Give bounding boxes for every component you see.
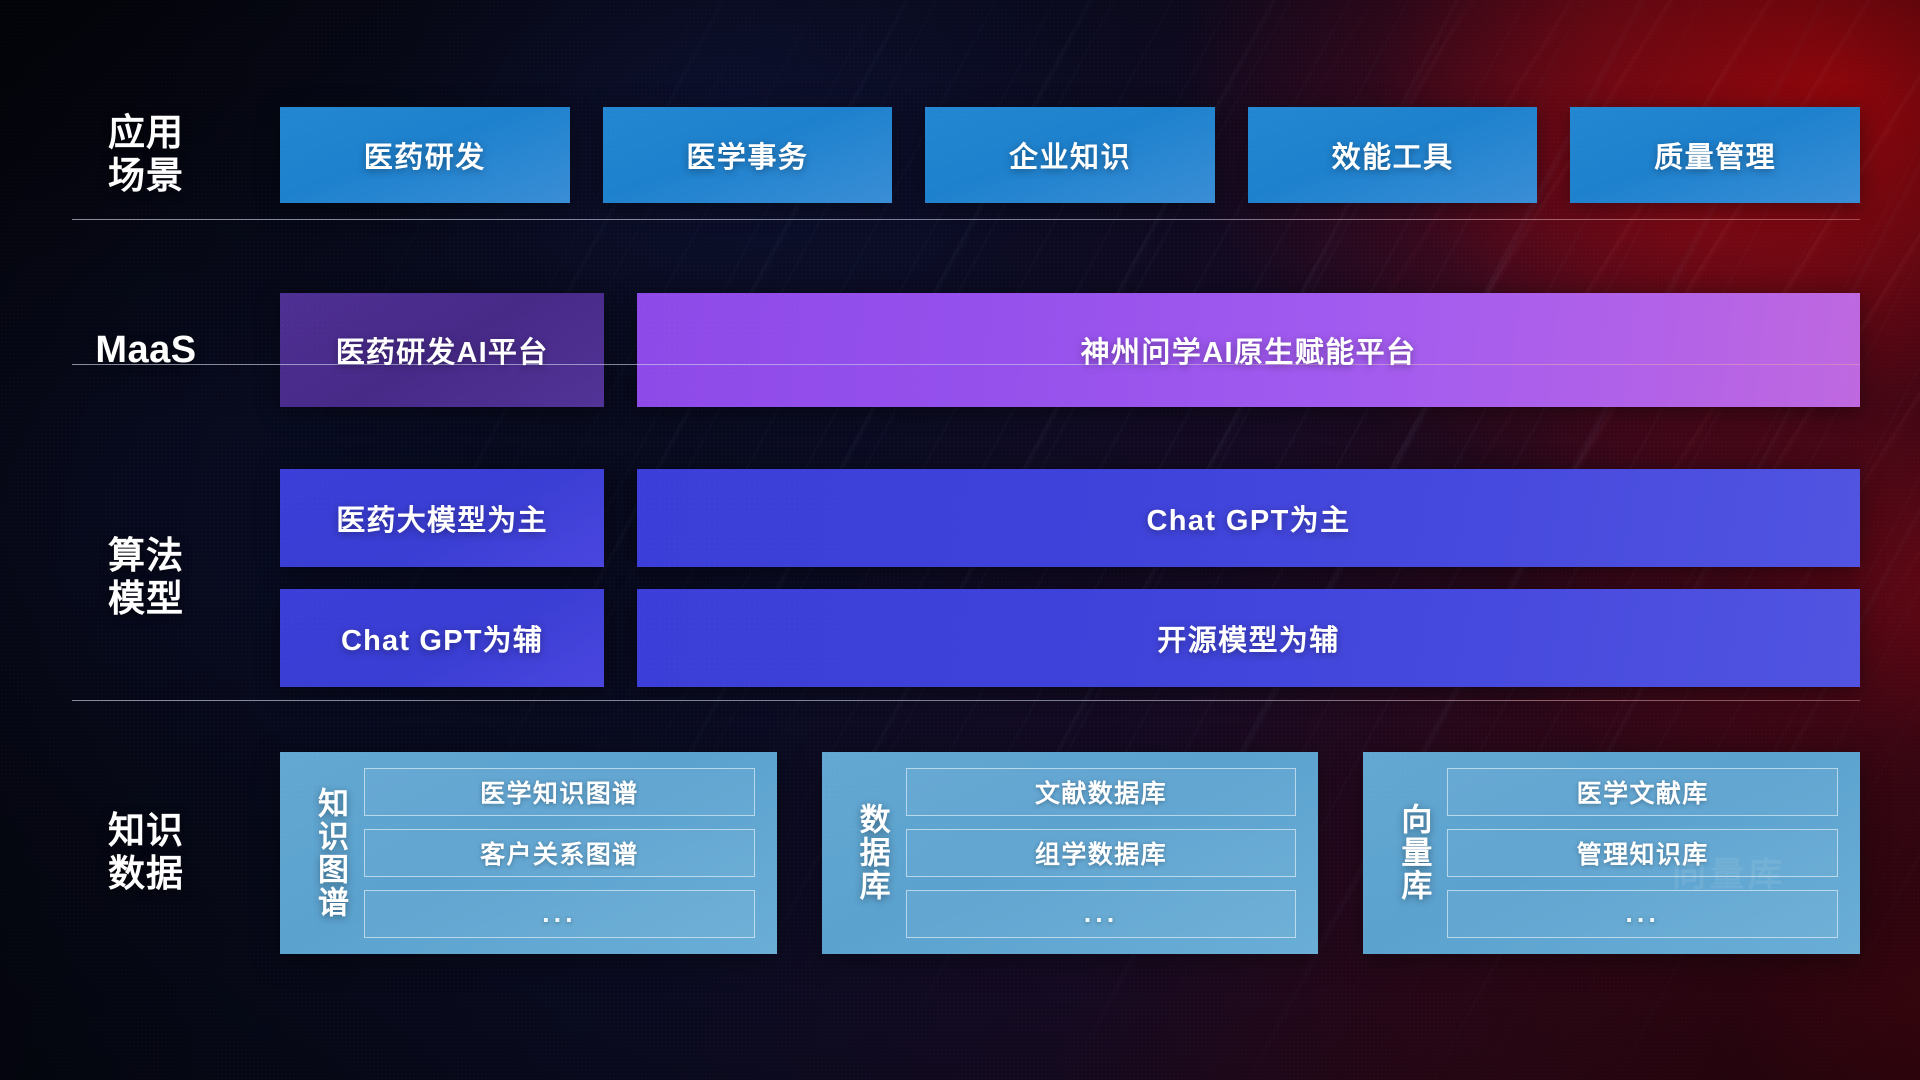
knowledge-panel-knowledge-graph[interactable]: 知识图谱 医学知识图谱 客户关系图谱 ... (280, 752, 777, 954)
row-label-application-scenarios: 应用 场景 (72, 112, 220, 198)
app-card-label: 效能工具 (1332, 134, 1454, 176)
knowledge-panel-title: 数据库 (840, 803, 888, 902)
app-card-drug-rd[interactable]: 医药研发 (280, 107, 570, 203)
knowledge-chip[interactable]: 医学文献库 (1447, 768, 1838, 816)
maas-card-label: 医药研发AI平台 (336, 329, 549, 371)
slide-canvas: 应用 场景 医药研发 医学事务 企业知识 效能工具 质量管理 (0, 0, 1920, 1080)
app-card-efficiency-tools[interactable]: 效能工具 (1248, 107, 1538, 203)
row-maas: MaaS 医药研发AI平台 神州问学AI原生赋能平台 (72, 293, 1860, 407)
knowledge-chip[interactable]: 管理知识库 (1447, 829, 1838, 877)
divider-algo-knowledge (72, 700, 1860, 701)
maas-card-label: 神州问学AI原生赋能平台 (1081, 329, 1417, 371)
app-card-label: 医学事务 (686, 134, 808, 176)
knowledge-chip-more[interactable]: ... (906, 890, 1297, 938)
algo-card-chatgpt-secondary[interactable]: Chat GPT为辅 (280, 589, 604, 687)
maas-card-shenzhou-wenxue-platform[interactable]: 神州问学AI原生赋能平台 (637, 293, 1860, 407)
knowledge-chip[interactable]: 文献数据库 (906, 768, 1297, 816)
knowledge-data-panels: 知识图谱 医学知识图谱 客户关系图谱 ... 数据库 文献数据库 组学数据库 .… (280, 752, 1860, 954)
application-scenario-cards: 医药研发 医学事务 企业知识 效能工具 质量管理 (280, 107, 1860, 203)
algorithm-model-cards: 医药大模型为主 Chat GPT为主 Chat GPT为辅 开源模型为辅 (280, 469, 1860, 687)
algo-card-chatgpt-primary[interactable]: Chat GPT为主 (637, 469, 1860, 567)
algo-card-label: Chat GPT为主 (1146, 497, 1350, 539)
algo-card-label: 医药大模型为主 (336, 497, 547, 539)
row-knowledge-data: 知识 数据 知识图谱 医学知识图谱 客户关系图谱 ... 数据库 文献数据库 组… (72, 730, 1860, 975)
app-card-label: 企业知识 (1009, 134, 1131, 176)
maas-card-drug-rd-ai-platform[interactable]: 医药研发AI平台 (280, 293, 604, 407)
row-label-knowledge-data: 知识 数据 (72, 810, 220, 896)
knowledge-panel-items: 文献数据库 组学数据库 ... (906, 768, 1297, 938)
knowledge-chip[interactable]: 组学数据库 (906, 829, 1297, 877)
app-card-enterprise-knowledge[interactable]: 企业知识 (925, 107, 1215, 203)
architecture-diagram: 应用 场景 医药研发 医学事务 企业知识 效能工具 质量管理 (0, 0, 1920, 1080)
algo-card-opensource-secondary[interactable]: 开源模型为辅 (637, 589, 1860, 687)
row-algorithm-models: 算法 模型 医药大模型为主 Chat GPT为主 Chat GPT为辅 开源模型… (72, 469, 1860, 687)
knowledge-panel-vector-store[interactable]: 向量库 医学文献库 管理知识库 ... 向量库 (1363, 752, 1860, 954)
knowledge-panel-title: 知识图谱 (298, 787, 346, 919)
maas-cards: 医药研发AI平台 神州问学AI原生赋能平台 (280, 293, 1860, 407)
algo-card-pharma-llm-primary[interactable]: 医药大模型为主 (280, 469, 604, 567)
knowledge-chip[interactable]: 医学知识图谱 (364, 768, 755, 816)
knowledge-panel-items: 医学文献库 管理知识库 ... (1447, 768, 1838, 938)
row-application-scenarios: 应用 场景 医药研发 医学事务 企业知识 效能工具 质量管理 (72, 107, 1860, 203)
knowledge-panel-items: 医学知识图谱 客户关系图谱 ... (364, 768, 755, 938)
knowledge-panel-database[interactable]: 数据库 文献数据库 组学数据库 ... (822, 752, 1319, 954)
knowledge-chip-more[interactable]: ... (1447, 890, 1838, 938)
app-card-label: 质量管理 (1654, 134, 1776, 176)
algorithm-primary-line: 医药大模型为主 Chat GPT为主 (280, 469, 1860, 567)
algorithm-secondary-line: Chat GPT为辅 开源模型为辅 (280, 589, 1860, 687)
app-card-quality-management[interactable]: 质量管理 (1570, 107, 1860, 203)
row-label-algorithm-models: 算法 模型 (72, 535, 220, 621)
divider-apps-maas (72, 219, 1860, 220)
knowledge-chip[interactable]: 客户关系图谱 (364, 829, 755, 877)
row-label-maas: MaaS (72, 328, 220, 372)
algo-card-label: Chat GPT为辅 (341, 617, 543, 659)
knowledge-chip-more[interactable]: ... (364, 890, 755, 938)
app-card-medical-affairs[interactable]: 医学事务 (603, 107, 893, 203)
app-card-label: 医药研发 (364, 134, 486, 176)
algo-card-label: 开源模型为辅 (1157, 617, 1339, 659)
knowledge-panel-title: 向量库 (1381, 803, 1429, 902)
